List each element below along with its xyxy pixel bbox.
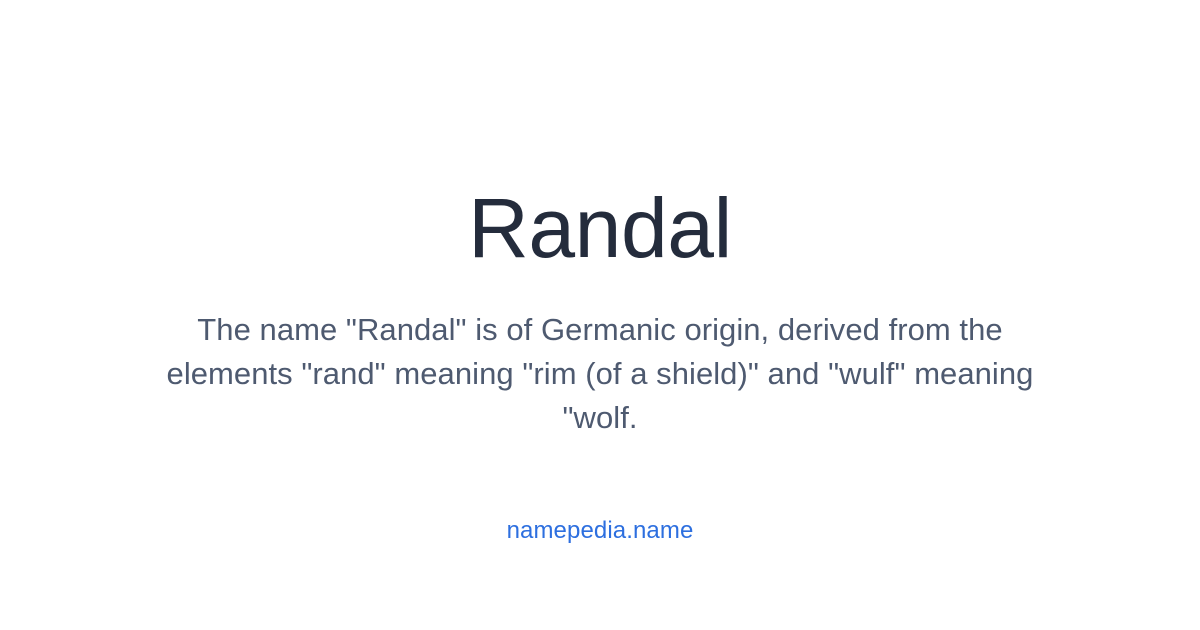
card-footer: namepedia.name bbox=[0, 516, 1200, 546]
name-description: The name "Randal" is of Germanic origin,… bbox=[150, 308, 1050, 440]
card-content: Randal The name "Randal" is of Germanic … bbox=[0, 0, 1200, 546]
open-graph-card: Randal The name "Randal" is of Germanic … bbox=[0, 0, 1200, 630]
site-link[interactable]: namepedia.name bbox=[507, 516, 694, 546]
page-title: Randal bbox=[468, 186, 732, 272]
